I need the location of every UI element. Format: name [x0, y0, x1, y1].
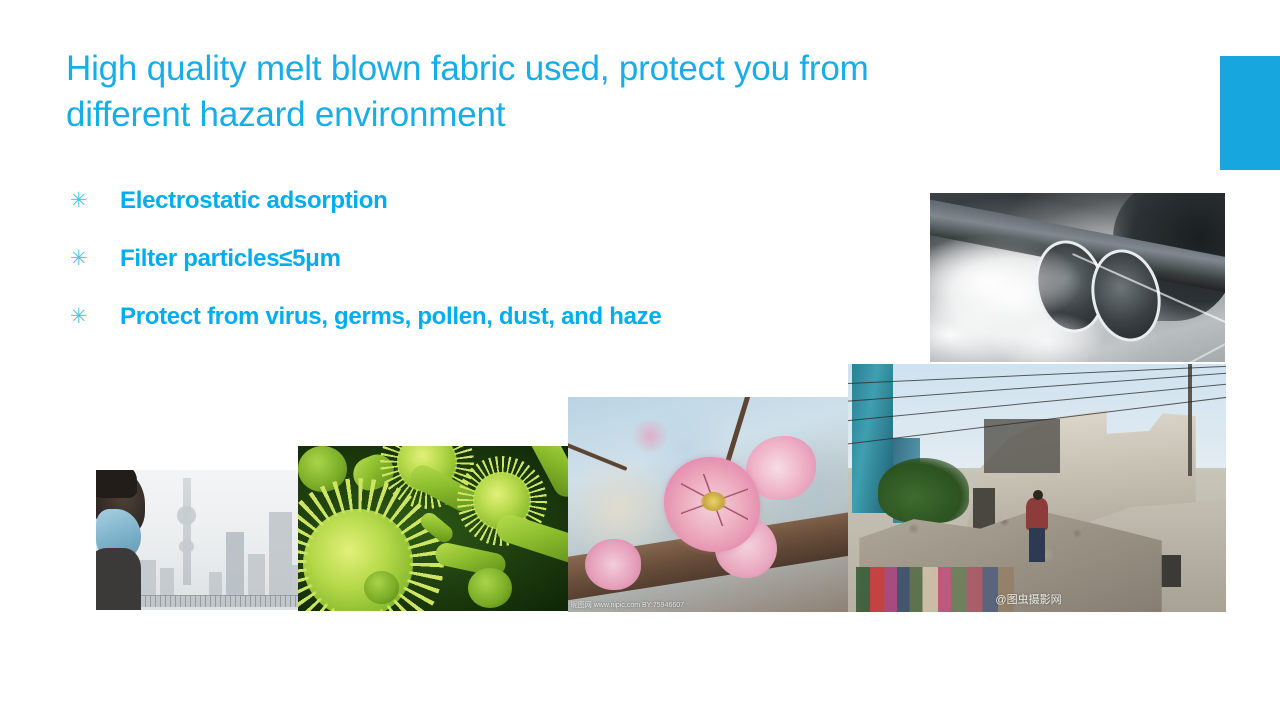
slide-canvas: · · · · · · · · · High quality melt blow… — [0, 0, 1280, 720]
coccus-shape — [468, 568, 512, 608]
image-car-exhaust-smoke — [930, 193, 1225, 362]
bullet-label: Electrostatic adsorption — [120, 186, 388, 216]
person-torso — [1026, 498, 1049, 530]
image-demolition-dust-rubble: @图虫摄影网 — [848, 364, 1226, 612]
tree-canopy — [878, 458, 969, 522]
image-watermark: @图虫摄影网 — [995, 591, 1061, 607]
exposed-interior-wall — [984, 419, 1060, 474]
image-masked-person-smoggy-city — [96, 470, 302, 610]
asterisk-bullet-icon: ✳ — [66, 244, 120, 274]
hanging-laundry — [856, 567, 1015, 612]
building-shape — [269, 512, 292, 596]
person-hair — [96, 470, 137, 498]
tower-sphere-lower — [179, 540, 193, 553]
faint-header-marks: · · · · · · · · · — [935, 18, 1225, 32]
blossom-background-cluster — [630, 419, 669, 453]
accent-block — [1220, 56, 1280, 170]
person-shoulder — [96, 548, 141, 610]
person-legs — [1029, 528, 1044, 563]
oriental-pearl-tower-shape — [183, 478, 191, 584]
bullet-label: Filter particles≤5μm — [120, 244, 341, 274]
building-shape — [248, 554, 264, 596]
utility-pole — [1188, 364, 1192, 476]
list-item: ✳ Electrostatic adsorption — [66, 186, 896, 244]
image-watermark: 昵图网 www.nipic.com BY:75946607 — [571, 600, 684, 610]
tower-sphere-upper — [177, 506, 196, 524]
list-item: ✳ Filter particles≤5μm — [66, 244, 896, 302]
bullet-label: Protect from virus, germs, pollen, dust,… — [120, 302, 661, 332]
image-bacteria-and-viruses — [298, 446, 572, 611]
bullet-list: ✳ Electrostatic adsorption ✳ Filter part… — [66, 186, 896, 360]
image-pink-blossom-pollen: 昵图网 www.nipic.com BY:75946607 — [568, 397, 850, 612]
building-shape — [160, 568, 174, 596]
exhaust-smoke-cloud — [930, 210, 1178, 362]
asterisk-bullet-icon: ✳ — [66, 186, 120, 216]
blossom-secondary — [585, 539, 641, 591]
building-shape — [226, 532, 245, 596]
pollen-anther — [701, 492, 726, 511]
asterisk-bullet-icon: ✳ — [66, 302, 120, 332]
list-item: ✳ Protect from virus, germs, pollen, dus… — [66, 302, 896, 360]
building-shape — [209, 572, 221, 596]
page-title: High quality melt blown fabric used, pro… — [66, 46, 996, 138]
